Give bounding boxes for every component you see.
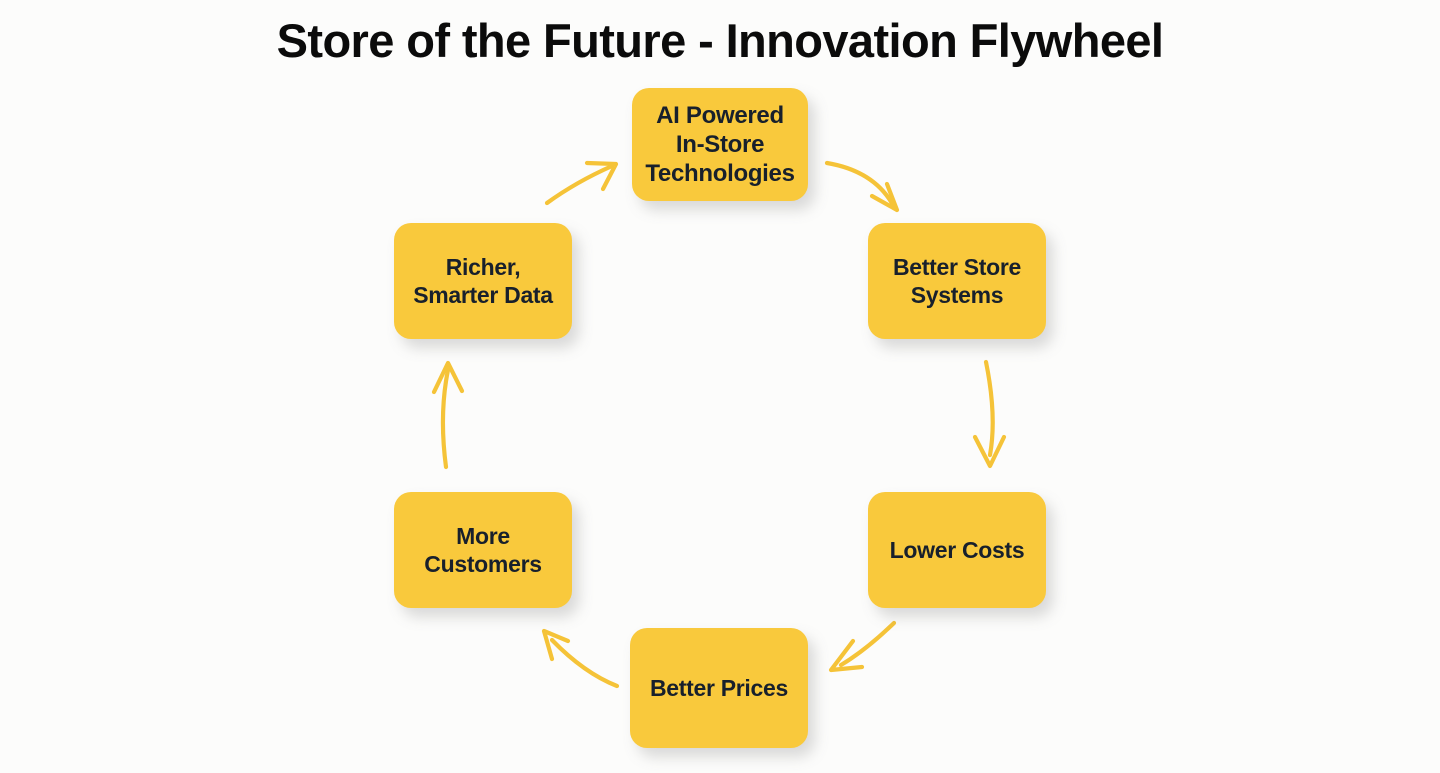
node-label: Better Prices — [640, 674, 798, 702]
arrow-systems-to-costs — [975, 362, 1004, 466]
arrow-costs-to-prices — [831, 623, 894, 670]
node-label: AI Powered In-Store Technologies — [635, 101, 804, 189]
flywheel-node-better-store-systems[interactable]: Better Store Systems — [868, 223, 1046, 339]
arrow-prices-to-customers — [544, 631, 617, 686]
arrow-customers-to-data — [434, 363, 462, 467]
arrow-data-to-ai — [547, 163, 616, 203]
node-label: More Customers — [414, 522, 551, 578]
page-title: Store of the Future - Innovation Flywhee… — [0, 14, 1440, 68]
arrow-ai-to-systems — [827, 163, 897, 210]
flywheel-node-richer-smarter-data[interactable]: Richer, Smarter Data — [394, 223, 572, 339]
flywheel-node-more-customers[interactable]: More Customers — [394, 492, 572, 608]
diagram-canvas: Store of the Future - Innovation Flywhee… — [0, 0, 1440, 773]
node-label: Better Store Systems — [883, 253, 1031, 309]
flywheel-node-ai-powered-in-store-technologies[interactable]: AI Powered In-Store Technologies — [632, 88, 808, 201]
node-label: Richer, Smarter Data — [403, 253, 563, 309]
flywheel-node-lower-costs[interactable]: Lower Costs — [868, 492, 1046, 608]
flywheel-node-better-prices[interactable]: Better Prices — [630, 628, 808, 748]
node-label: Lower Costs — [880, 536, 1035, 564]
